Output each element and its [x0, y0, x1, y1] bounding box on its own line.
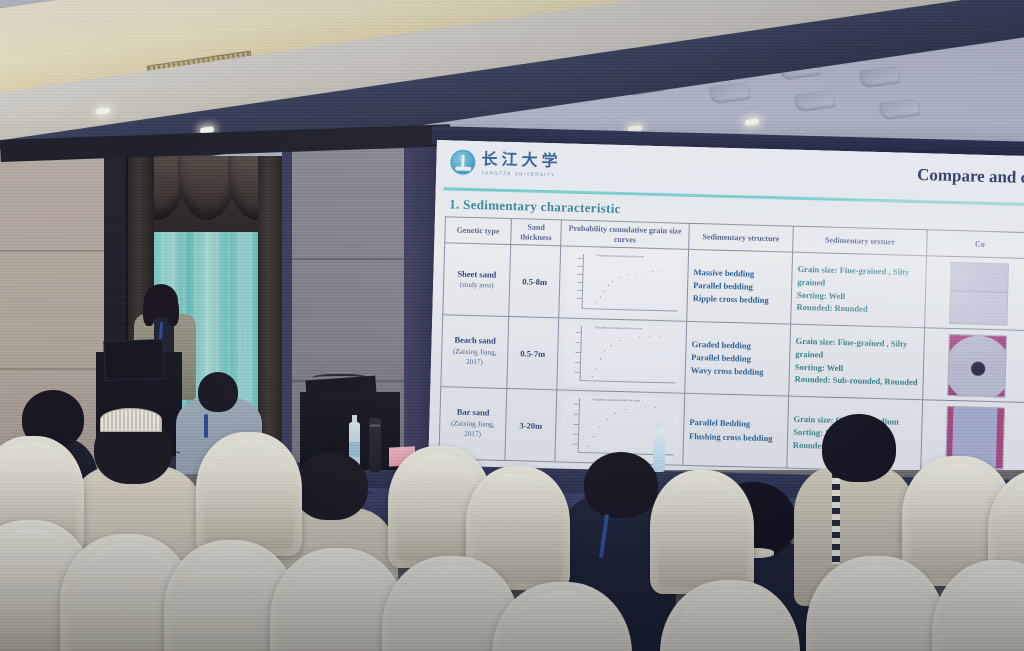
chart-legend: Probability cumulative grain size curve — [593, 397, 641, 402]
genetic-type-name: Bar sand — [457, 407, 490, 418]
column-header-sed-structure: Sedimentary structure — [689, 223, 794, 252]
cell-genetic-type: Sheet sand (study area) — [443, 243, 511, 317]
chart-legend: Probability cumulative grain size curve — [594, 325, 642, 330]
column-header-grain-curves: Probability cumulative grain size curves — [561, 220, 690, 249]
cell-sedimentary-texture: Grain size: Fine-grained , Silty grained… — [791, 252, 927, 328]
column-header-sand-thickness: Sand thickness — [511, 219, 562, 246]
cell-grain-curve: Probability cumulative grain size curve — [557, 318, 687, 393]
cell-sand-thickness: 3-20m — [505, 388, 557, 461]
cell-sand-thickness: 0.5-7m — [507, 317, 559, 390]
column-header-core-photo: Co — [927, 230, 1024, 259]
curtain-panel-right — [258, 156, 284, 456]
genetic-type-source: (study area) — [449, 280, 504, 292]
cell-sedimentary-structure: Graded bedding Parallel bedding Wavy cro… — [685, 321, 791, 396]
cell-genetic-type: Beach sand (Zaixing Jiang, 2017) — [441, 315, 509, 389]
cell-sedimentary-texture: Grain size: Fine-grained , Silty grained… — [789, 324, 925, 400]
prayer-cap — [100, 408, 162, 432]
cell-sedimentary-structure: Parallel Bedding Flushing cross bedding — [683, 393, 789, 468]
podium-laptop — [103, 339, 164, 381]
presentation-slide: 长江大学 YANGTZE UNIVERSITY Compare and c 1.… — [427, 140, 1024, 508]
core-photo-beach-sand — [947, 333, 1007, 397]
presenter-hair — [144, 284, 178, 318]
genetic-type-source: (Zaixing Jiang, 2017) — [445, 419, 501, 441]
slide-section-heading: 1. Sedimentary characteristic — [449, 196, 621, 217]
sedimentary-characteristic-table: Genetic type Sand thickness Probability … — [438, 216, 1024, 475]
column-header-sed-texture: Sedimentary texture — [793, 226, 928, 256]
university-logo: 长江大学 YANGTZE UNIVERSITY — [450, 149, 562, 177]
column-header-genetic-type: Genetic type — [445, 217, 512, 245]
projection-screen: 长江大学 YANGTZE UNIVERSITY Compare and c 1.… — [427, 140, 1024, 508]
slide-header-title: Compare and c — [917, 165, 1024, 188]
chart-x-axis — [581, 307, 677, 311]
chart-x-axis — [579, 379, 675, 383]
cell-core-photo — [925, 256, 1024, 331]
conference-photo-scene: 长江大学 YANGTZE UNIVERSITY Compare and c 1.… — [0, 0, 1024, 651]
university-seal-icon — [450, 149, 476, 175]
probability-cumulative-curve-chart: Probability cumulative grain size curve — [563, 323, 681, 388]
audience-chair — [650, 470, 754, 594]
audience-lanyard — [832, 472, 840, 564]
genetic-type-source: (Zaixing Jiang, 2017) — [447, 347, 503, 369]
cell-sand-thickness: 0.5-8m — [509, 245, 561, 318]
audience-head — [198, 372, 238, 412]
university-name-en: YANGTZE UNIVERSITY — [481, 170, 561, 177]
audience-head — [294, 452, 368, 520]
audience-chair — [196, 432, 302, 556]
thermos-flask — [369, 418, 381, 472]
cell-core-photo — [923, 328, 1024, 403]
probability-cumulative-curve-chart: Probability cumulative grain size curve — [565, 251, 683, 316]
cell-grain-curve: Probability cumulative grain size curve — [559, 246, 689, 321]
chart-legend: Probability cumulative grain size curve — [596, 253, 644, 258]
genetic-type-name: Sheet sand — [457, 268, 496, 279]
cell-sedimentary-structure: Massive bedding Parallel bedding Ripple … — [687, 249, 793, 324]
core-photo-sheet-sand — [949, 261, 1009, 325]
genetic-type-name: Beach sand — [454, 335, 496, 346]
audience-head — [584, 452, 658, 518]
audience-lanyard — [204, 414, 208, 438]
university-name-cn: 长江大学 — [481, 151, 561, 169]
water-bottle — [653, 428, 665, 472]
audience-head — [822, 414, 896, 482]
